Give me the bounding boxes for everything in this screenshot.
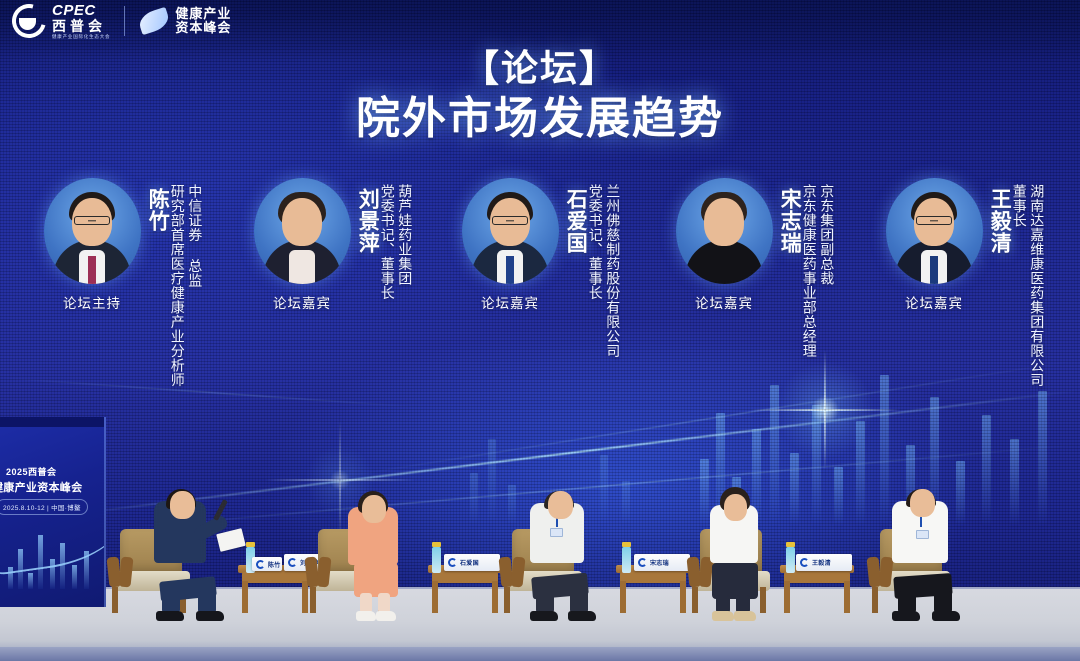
panelist-photo-1 bbox=[254, 178, 351, 284]
panelist-card-1: 论坛嘉宾 刘景萍 党委书记、董事长 葫芦娃药业集团 bbox=[250, 178, 413, 312]
header-logos: CPEC 西普会 健康产业国际化生态大会 健康产业 资本峰会 bbox=[12, 3, 231, 40]
nameplate-text-0: 陈竹 bbox=[268, 560, 281, 569]
forum-title: 【论坛】 院外市场发展趋势 bbox=[0, 48, 1080, 145]
water-bottle-2 bbox=[622, 547, 631, 573]
nameplate-4: 王毅清 bbox=[796, 554, 852, 571]
panelist-org-wrap-3: 京东集团副总裁 bbox=[819, 184, 836, 286]
panelist-position-2: 党委书记、董事长 bbox=[587, 184, 604, 300]
plate-logo-icon bbox=[638, 558, 647, 567]
title-line-1: 【论坛】 bbox=[0, 48, 1080, 91]
panelist-photo-0 bbox=[44, 178, 141, 284]
panelist-photo-4 bbox=[886, 178, 983, 284]
panelist-position-0: 研究部首席医疗健康产业分析师 bbox=[169, 184, 186, 387]
panelist-org-2: 兰州佛慈制药股份有限公司 bbox=[605, 184, 622, 358]
water-bottle-3 bbox=[786, 547, 795, 573]
panelist-title-2: 党委书记、董事长 bbox=[587, 184, 604, 300]
panelist-org-1: 葫芦娃药业集团 bbox=[397, 184, 414, 286]
podium-chart-decoration bbox=[0, 519, 104, 589]
panelist-org-wrap-0: 中信证券 总监 bbox=[187, 184, 204, 288]
panelist-org-0: 中信证券 总监 bbox=[187, 184, 204, 288]
nameplate-2: 石爱国 bbox=[444, 554, 500, 571]
panelist-title-4: 董事长 bbox=[1011, 184, 1028, 228]
panelist-org-wrap-4: 湖南达嘉维康医药集团有限公司 bbox=[1029, 184, 1046, 387]
logo-cpec-cn: 西普会 bbox=[52, 19, 110, 33]
logo-cpec-en: CPEC bbox=[52, 3, 110, 18]
nameplate-text-2: 石爱国 bbox=[460, 558, 479, 567]
panelist-role-0: 论坛主持 bbox=[63, 292, 121, 312]
panelist-org-3: 京东集团副总裁 bbox=[819, 184, 836, 286]
logo-summit-line2: 资本峰会 bbox=[175, 21, 231, 36]
panelist-photo-2 bbox=[462, 178, 559, 284]
panelist-title-1: 党委书记、董事长 bbox=[379, 184, 396, 300]
title-line-2: 院外市场发展趋势 bbox=[0, 93, 1080, 146]
plate-logo-icon bbox=[288, 558, 297, 567]
plate-logo-icon bbox=[256, 560, 265, 569]
plate-logo-icon bbox=[448, 558, 457, 567]
leaf-icon bbox=[137, 7, 172, 35]
nameplate-0: 陈竹 bbox=[252, 557, 282, 571]
conference-stage-screenshot: CPEC 西普会 健康产业国际化生态大会 健康产业 资本峰会 【论坛】 院外市场… bbox=[0, 0, 1080, 661]
panelist-name-1: 刘景萍 bbox=[356, 188, 378, 254]
podium-line-2: 健康产业资本峰会 bbox=[0, 479, 82, 495]
logo-health-summit: 健康产业 资本峰会 bbox=[139, 7, 231, 36]
panelist-name-0: 陈竹 bbox=[146, 188, 168, 232]
panelist-role-1: 论坛嘉宾 bbox=[273, 292, 331, 312]
nameplate-3: 宋志瑞 bbox=[634, 554, 690, 571]
podium-date: 2025.8.10-12 | 中国·博鳌 bbox=[0, 499, 88, 515]
panelist-photo-3 bbox=[676, 178, 773, 284]
panelist-card-3: 论坛嘉宾 宋志瑞 京东健康医药事业部总经理 京东集团副总裁 bbox=[672, 178, 835, 358]
panelist-name-4: 王毅清 bbox=[988, 188, 1010, 254]
panelist-position-3: 京东健康医药事业部总经理 bbox=[801, 184, 818, 358]
panelist-card-0: 论坛主持 陈竹 研究部首席医疗健康产业分析师 中信证券 总监 bbox=[40, 178, 203, 387]
panelist-position-1: 党委书记、董事长 bbox=[379, 184, 396, 300]
panelist-org-wrap-1: 葫芦娃药业集团 bbox=[397, 184, 414, 286]
nameplate-text-3: 宋志瑞 bbox=[650, 558, 669, 567]
panelist-card-2: 论坛嘉宾 石爱国 党委书记、董事长 兰州佛慈制药股份有限公司 bbox=[458, 178, 621, 358]
panelist-title-0: 研究部首席医疗健康产业分析师 bbox=[169, 184, 186, 387]
logo-cpec: CPEC 西普会 健康产业国际化生态大会 bbox=[12, 3, 110, 40]
panelist-name-2: 石爱国 bbox=[564, 188, 586, 254]
cpec-ring-icon bbox=[12, 4, 46, 38]
panelist-role-3: 论坛嘉宾 bbox=[695, 292, 753, 312]
podium-line-1: 2025西普会 bbox=[6, 465, 57, 478]
panelist-org-4: 湖南达嘉维康医药集团有限公司 bbox=[1029, 184, 1046, 387]
logo-summit-line1: 健康产业 bbox=[175, 7, 231, 22]
logo-cpec-sub: 健康产业国际化生态大会 bbox=[52, 35, 110, 40]
stage-floor-edge bbox=[0, 647, 1080, 661]
panelist-position-4: 董事长 bbox=[1011, 184, 1028, 228]
panelist-name-3: 宋志瑞 bbox=[778, 188, 800, 254]
panelist-cards: 论坛主持 陈竹 研究部首席医疗健康产业分析师 中信证券 总监 论坛嘉宾 刘 bbox=[0, 178, 1080, 458]
plate-logo-icon bbox=[800, 558, 809, 567]
panelist-card-4: 论坛嘉宾 王毅清 董事长 湖南达嘉维康医药集团有限公司 bbox=[882, 178, 1045, 387]
water-bottle-1 bbox=[432, 547, 441, 573]
podium-banner: 2025西普会 健康产业资本峰会 2025.8.10-12 | 中国·博鳌 bbox=[0, 417, 106, 607]
panelist-role-4: 论坛嘉宾 bbox=[905, 292, 963, 312]
panelist-title-3: 京东健康医药事业部总经理 bbox=[801, 184, 818, 358]
panelist-org-wrap-2: 兰州佛慈制药股份有限公司 bbox=[605, 184, 622, 358]
nameplate-text-4: 王毅清 bbox=[812, 558, 831, 567]
panelist-role-2: 论坛嘉宾 bbox=[481, 292, 539, 312]
logo-divider bbox=[124, 6, 125, 36]
